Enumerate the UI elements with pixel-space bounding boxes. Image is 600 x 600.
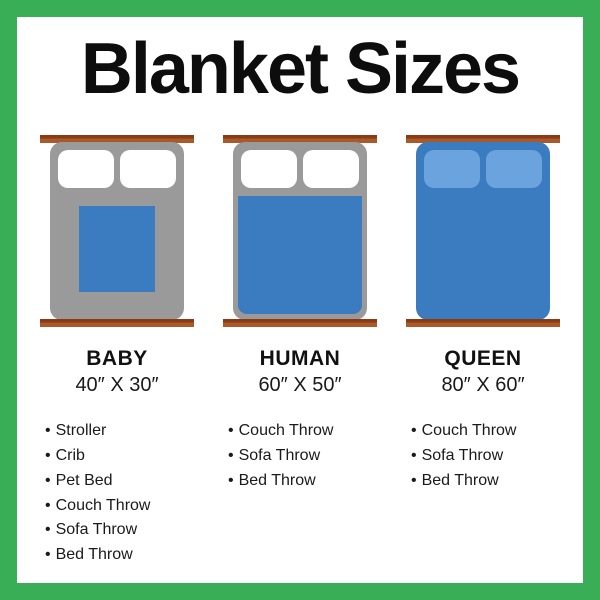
use-label: Bed Throw [422, 472, 499, 489]
page-title: Blanket Sizes [17, 33, 583, 105]
size-name-label: HUMAN [260, 347, 341, 371]
list-item: •Couch Throw [411, 419, 571, 444]
list-item: •Bed Throw [228, 469, 388, 494]
bullet-icon: • [228, 472, 234, 489]
size-column-human: HUMAN 60″ X 50″ •Couch Throw •Sofa Throw… [212, 135, 388, 568]
list-item: •Stroller [45, 419, 205, 444]
size-column-queen: QUEEN 80″ X 60″ •Couch Throw •Sofa Throw… [395, 135, 571, 568]
bullet-icon: • [45, 472, 51, 489]
bullet-icon: • [45, 546, 51, 563]
list-item: •Bed Throw [45, 543, 205, 568]
mattress [50, 142, 184, 320]
use-label: Bed Throw [56, 546, 133, 563]
footboard-bar [40, 319, 194, 327]
use-label: Pet Bed [56, 472, 113, 489]
use-label: Couch Throw [56, 497, 151, 514]
uses-list: •Couch Throw •Sofa Throw •Bed Throw [395, 419, 571, 493]
use-label: Sofa Throw [56, 521, 138, 538]
bullet-icon: • [45, 521, 51, 538]
list-item: •Pet Bed [45, 469, 205, 494]
list-item: •Sofa Throw [45, 518, 205, 543]
uses-list: •Stroller •Crib •Pet Bed •Couch Throw •S… [29, 419, 205, 568]
footboard-bar [223, 319, 377, 327]
bed-illustration-human [220, 135, 380, 327]
bullet-icon: • [228, 422, 234, 439]
poster-canvas: Blanket Sizes BABY 40″ X 30″ •Stroller [17, 17, 583, 583]
mattress [416, 142, 550, 320]
bullet-icon: • [45, 422, 51, 439]
bullet-icon: • [411, 422, 417, 439]
pillow-left-icon [241, 150, 297, 188]
list-item: •Sofa Throw [228, 444, 388, 469]
mattress [233, 142, 367, 320]
blanket-overlay [238, 196, 362, 314]
use-label: Stroller [56, 422, 107, 439]
size-name-label: BABY [86, 347, 148, 371]
size-dimensions-label: 40″ X 30″ [75, 374, 158, 397]
uses-list: •Couch Throw •Sofa Throw •Bed Throw [212, 419, 388, 493]
bullet-icon: • [45, 497, 51, 514]
bullet-icon: • [411, 447, 417, 464]
size-columns: BABY 40″ X 30″ •Stroller •Crib •Pet Bed … [17, 135, 583, 568]
blanket-overlay [79, 206, 155, 292]
use-label: Bed Throw [239, 472, 316, 489]
bullet-icon: • [228, 447, 234, 464]
use-label: Couch Throw [422, 422, 517, 439]
bullet-icon: • [411, 472, 417, 489]
size-name-label: QUEEN [444, 347, 521, 371]
bed-illustration-queen [403, 135, 563, 327]
list-item: •Sofa Throw [411, 444, 571, 469]
list-item: •Couch Throw [228, 419, 388, 444]
pillow-right-icon [120, 150, 176, 188]
use-label: Couch Throw [239, 422, 334, 439]
infographic-poster: Blanket Sizes BABY 40″ X 30″ •Stroller [0, 0, 600, 600]
bullet-icon: • [45, 447, 51, 464]
list-item: •Crib [45, 444, 205, 469]
use-label: Sofa Throw [422, 447, 504, 464]
pillow-left-icon [58, 150, 114, 188]
pillow-right-icon [486, 150, 542, 188]
use-label: Crib [56, 447, 85, 464]
size-dimensions-label: 60″ X 50″ [258, 374, 341, 397]
list-item: •Bed Throw [411, 469, 571, 494]
bed-illustration-baby [37, 135, 197, 327]
size-column-baby: BABY 40″ X 30″ •Stroller •Crib •Pet Bed … [29, 135, 205, 568]
pillow-right-icon [303, 150, 359, 188]
list-item: •Couch Throw [45, 494, 205, 519]
pillow-left-icon [424, 150, 480, 188]
footboard-bar [406, 319, 560, 327]
size-dimensions-label: 80″ X 60″ [441, 374, 524, 397]
use-label: Sofa Throw [239, 447, 321, 464]
